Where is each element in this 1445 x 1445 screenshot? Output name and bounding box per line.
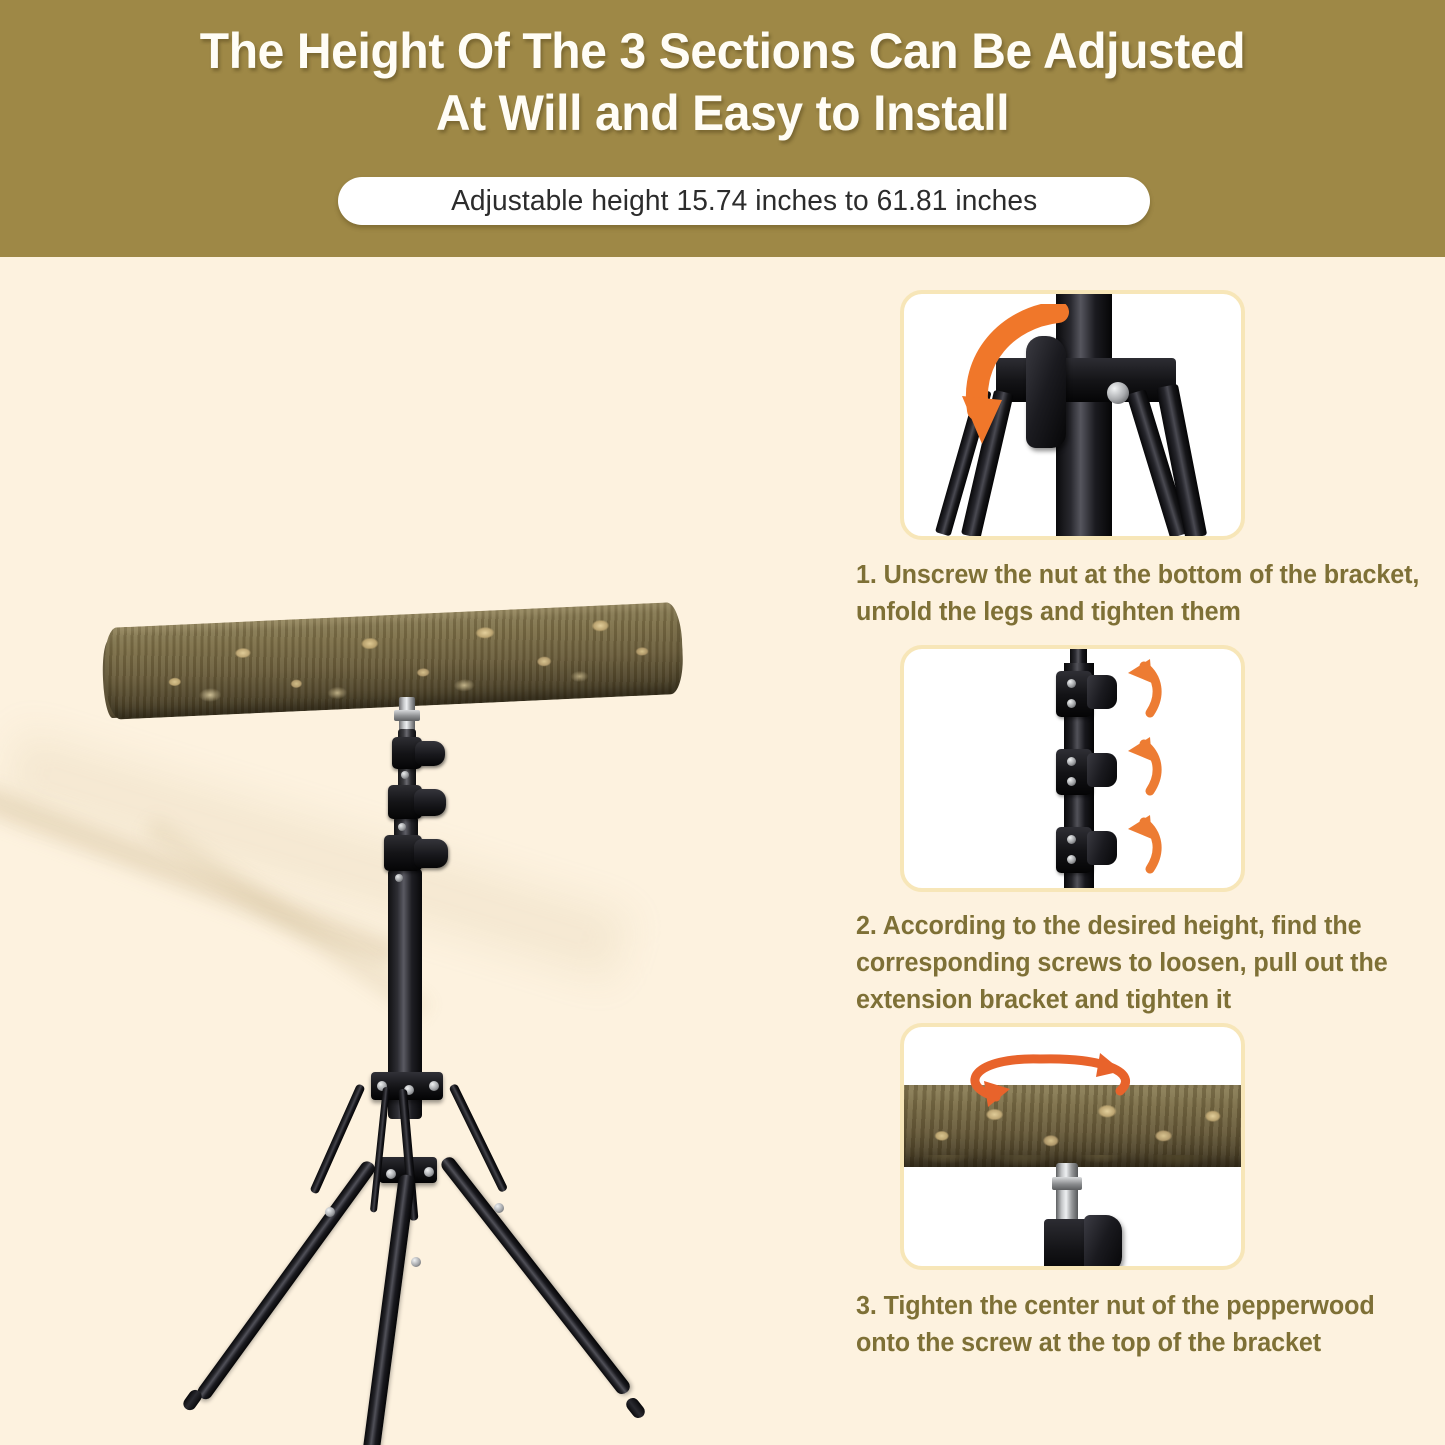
step-1-photo (900, 290, 1245, 540)
pole-clamp-lever-1 (415, 741, 445, 766)
perch-mount-nut (394, 710, 420, 721)
leg-pivot-front (411, 1257, 421, 1267)
extension-screw-3b (1067, 855, 1076, 864)
tripod-leg-front (343, 1174, 416, 1445)
bracket-top-knob (1084, 1215, 1122, 1266)
leg-brace-front-inner (370, 1087, 390, 1213)
step-2-photo (900, 645, 1245, 892)
pole-clamp-lever-2 (414, 789, 446, 816)
rotation-loop-arrow-icon (944, 1047, 1194, 1127)
page-title: The Height Of The 3 Sections Can Be Adju… (77, 20, 1368, 144)
up-arrow-icon-2 (1116, 735, 1176, 797)
infographic-page: The Height Of The 3 Sections Can Be Adju… (0, 0, 1445, 1445)
leg-pivot-right (494, 1203, 504, 1213)
extension-screw-1a (1067, 679, 1076, 688)
leg-pivot-left (325, 1207, 335, 1217)
extension-knob-2 (1087, 753, 1117, 787)
mount-screw-collar (1052, 1177, 1082, 1190)
tripod-leg-right (439, 1154, 633, 1396)
tripod-leg-left (195, 1159, 378, 1402)
extension-knob-1 (1087, 675, 1117, 709)
bracket-bolt (1107, 382, 1129, 404)
step-2-caption: 2. According to the desired height, find… (856, 908, 1427, 1019)
extension-screw-1b (1067, 699, 1076, 708)
adjustable-height-badge-label: Adjustable height 15.74 inches to 61.81 … (451, 185, 1037, 218)
instruction-steps: 1. Unscrew the nut at the bottom of the … (840, 257, 1445, 1445)
up-arrow-icon-3 (1116, 813, 1176, 875)
curved-down-arrow-icon (962, 304, 1072, 464)
step-3-caption: 3. Tighten the center nut of the pepperw… (856, 1288, 1427, 1362)
hub-bolt-right (429, 1081, 439, 1091)
hub-lower-bolt-right (424, 1167, 434, 1177)
pole-clamp-screw-1 (401, 771, 409, 779)
step-1-caption: 1. Unscrew the nut at the bottom of the … (856, 557, 1427, 631)
extension-knob-3 (1087, 831, 1117, 865)
pole-clamp-screw-3 (395, 874, 403, 882)
wooden-perch-branch (103, 602, 685, 720)
pole-clamp-lever-3 (414, 839, 448, 868)
pole-clamp-screw-2 (398, 823, 406, 831)
product-photo (0, 257, 860, 1445)
header-band: The Height Of The 3 Sections Can Be Adju… (0, 0, 1445, 257)
leg-foot-right (624, 1395, 648, 1420)
hub-lower-bolt-left (386, 1169, 396, 1179)
extension-screw-2b (1067, 777, 1076, 786)
adjustable-height-badge: Adjustable height 15.74 inches to 61.81 … (338, 177, 1150, 225)
extension-screw-3a (1067, 835, 1076, 844)
mount-screw (1056, 1163, 1078, 1225)
up-arrow-icon-1 (1116, 657, 1176, 719)
extension-screw-2a (1067, 757, 1076, 766)
perch-bark-nodules (103, 602, 685, 720)
step-3-photo (900, 1023, 1245, 1270)
